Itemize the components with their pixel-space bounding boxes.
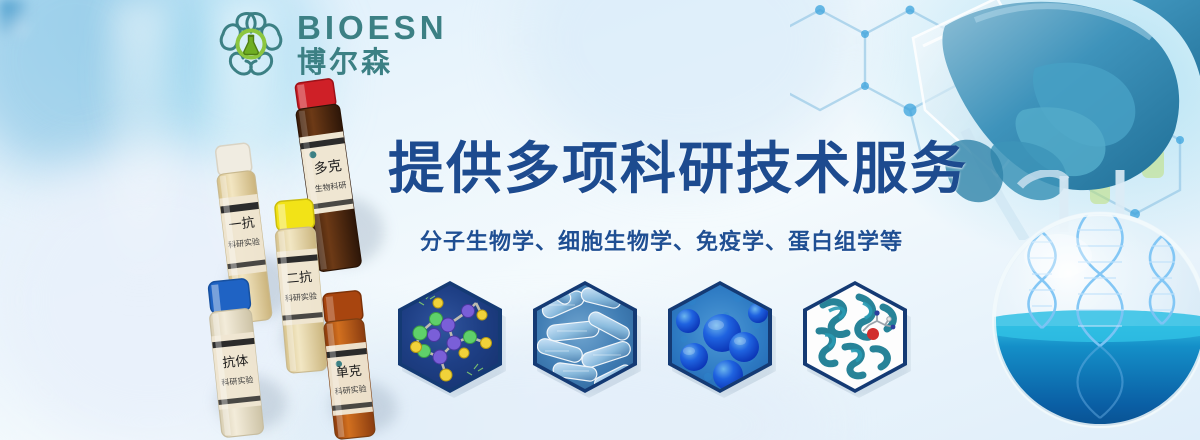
logo-latin-name: BIOESN [297, 11, 448, 44]
service-hexagon-row [398, 281, 907, 393]
page-title: 提供多项科研技术服务 [388, 124, 968, 205]
background-light-stripe [110, 0, 170, 300]
vial-label-main: 抗体 [222, 354, 249, 372]
monoclonal-antibody-vial: 单克 科研实验 [312, 287, 383, 440]
hexagon-bacteria-culture[interactable] [533, 281, 637, 393]
vial-graphic: 单克 科研实验 [312, 287, 383, 440]
round-flask-with-dna [980, 170, 1200, 440]
background-corner-accent [0, 0, 26, 34]
vial-label-main: 单克 [335, 364, 362, 382]
brand-logo[interactable]: BIOESN 博尔森 [215, 8, 448, 80]
hexagon-cell-cluster[interactable] [668, 281, 772, 393]
flask-badge-icon [244, 35, 258, 55]
bioesn-swirl-flask-logo-icon [215, 8, 287, 80]
vial-label-main: 二抗 [286, 270, 313, 287]
page-subtitle: 分子生物学、细胞生物学、免疫学、蛋白组学等 [420, 224, 903, 256]
bioesn-hero-banner: 一抗 科研实验 多克 生物科研 [0, 0, 1200, 440]
hexagon-molecular-network[interactable] [398, 281, 502, 393]
hexagon-protein-ribbon[interactable] [803, 281, 907, 393]
logo-chinese-name: 博尔森 [297, 48, 448, 77]
